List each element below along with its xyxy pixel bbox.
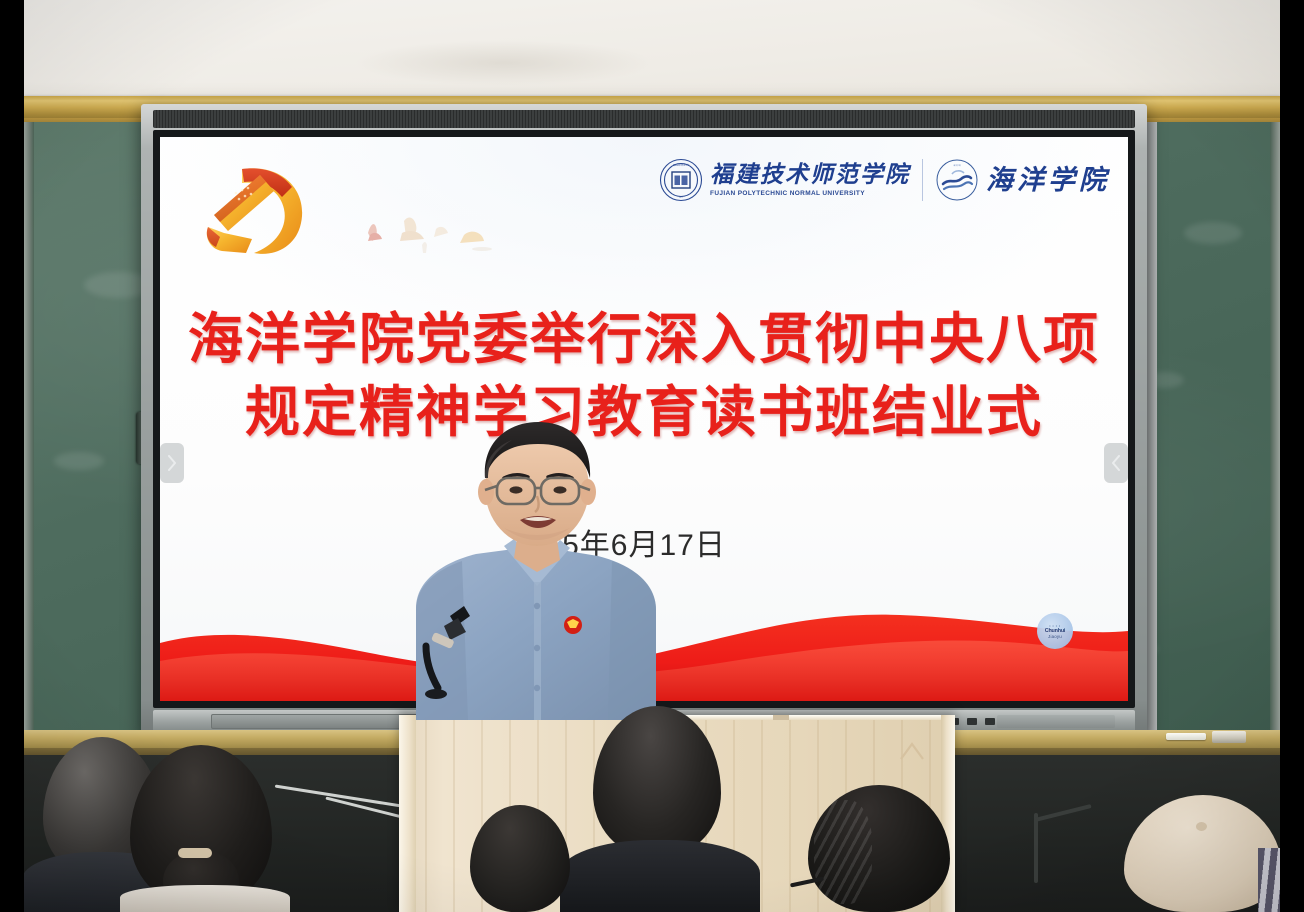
- chair-back-rail: [1034, 804, 1091, 822]
- ocean-college-logo: 海洋学院 海洋学院: [935, 158, 1110, 202]
- institution-logos: 福建技术师范学院 1977 福建技术师范学院 FUJIAN POLYTECHNI…: [659, 149, 1110, 211]
- chalkboard-right-edge: [1270, 122, 1280, 738]
- braid-texture: [814, 800, 872, 904]
- svg-text:1977: 1977: [679, 197, 683, 199]
- right-letterbox: [1280, 0, 1304, 912]
- podium-left-edge: [399, 715, 416, 912]
- chair-back-rail: [1034, 813, 1038, 883]
- photo-canvas: 福建技术师范学院 1977 福建技术师范学院 FUJIAN POLYTECHNI…: [0, 0, 1304, 912]
- ocean-college-name-cn: 海洋学院: [986, 166, 1110, 194]
- left-letterbox: [0, 0, 24, 912]
- wall-stain: [354, 40, 654, 86]
- chalkboard-left-edge: [24, 122, 34, 738]
- party-emblem-hammer-sickle: [202, 157, 318, 267]
- cap-button: [1196, 822, 1207, 831]
- university-name-cn: 福建技术师范学院: [710, 163, 910, 187]
- podium-corner-mark: [897, 737, 927, 767]
- hair-tie: [178, 848, 212, 858]
- decorative-figures: [360, 199, 530, 259]
- display-port[interactable]: [985, 718, 995, 725]
- display-brand-label: [997, 715, 1115, 728]
- university-logo: 福建技术师范学院 1977 福建技术师范学院 FUJIAN POLYTECHNI…: [659, 158, 910, 202]
- display-port[interactable]: [967, 718, 977, 725]
- slide-watermark-badge: • • • • Chunhui Jiaoyu: [1037, 613, 1073, 649]
- display-speaker-grille: [153, 110, 1135, 128]
- ocean-college-seal-icon: 海洋学院: [935, 158, 979, 202]
- watermark-bottom: Jiaoyu: [1048, 634, 1062, 639]
- logo-divider: [922, 159, 923, 201]
- audience-shoulder: [120, 885, 290, 912]
- slide-prev-button[interactable]: [160, 443, 184, 483]
- university-seal-icon: 福建技术师范学院 1977: [659, 158, 703, 202]
- slide-next-button[interactable]: [1104, 443, 1128, 483]
- slide-title-line-1: 海洋学院党委举行深入贯彻中央八项: [160, 303, 1128, 376]
- board-eraser[interactable]: [1212, 731, 1246, 743]
- podium-notch: [773, 715, 789, 720]
- red-party-badge-pin: [564, 616, 582, 634]
- svg-text:海洋学院: 海洋学院: [953, 163, 961, 167]
- presenter-at-podium: [392, 420, 682, 720]
- university-name-en: FUJIAN POLYTECHNIC NORMAL UNIVERSITY: [710, 190, 910, 197]
- chalk-stick[interactable]: [1166, 733, 1206, 740]
